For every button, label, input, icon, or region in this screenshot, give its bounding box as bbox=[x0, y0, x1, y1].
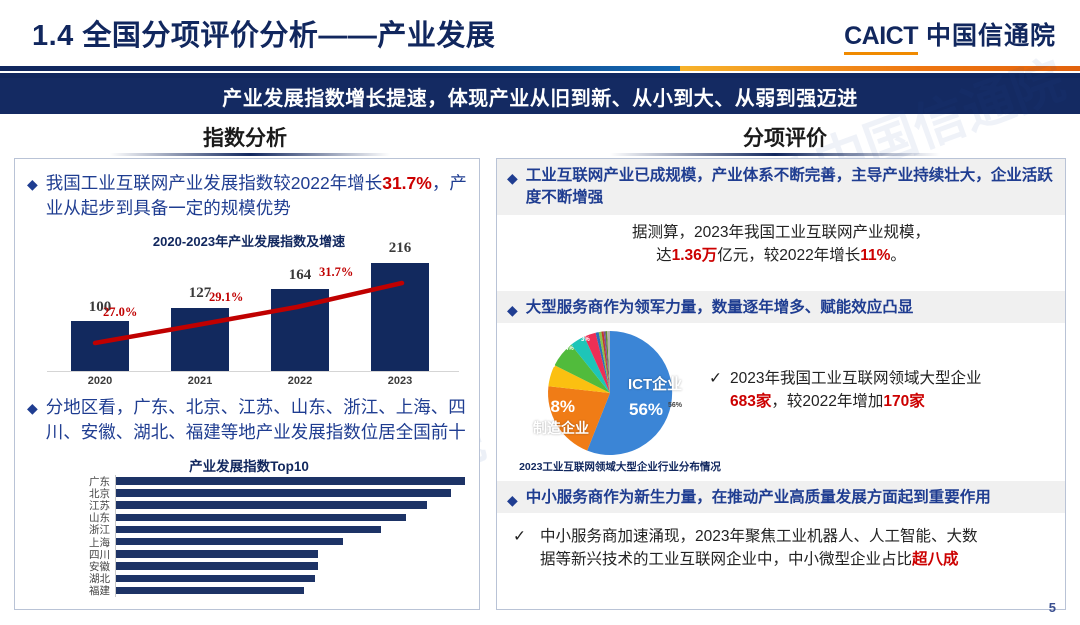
pie-svg bbox=[505, 329, 735, 457]
slide-header: 1.4 全国分项评价分析——产业发展 CAICT 中国信通院 bbox=[0, 0, 1080, 66]
bar-chart-axis-line bbox=[47, 371, 459, 372]
right-note-2: ✓ 2023年我国工业互联网领域大型企业683家，较2022年增加170家 bbox=[709, 367, 1059, 414]
bar-2021 bbox=[171, 308, 229, 372]
growth-label-2023: 31.7% bbox=[319, 265, 353, 280]
bar-category-2023: 2023 bbox=[365, 375, 435, 387]
top10-row: 北京 bbox=[71, 487, 465, 499]
headline-banner: 产业发展指数增长提速，体现产业从旧到新、从小到大、从弱到强迈进 bbox=[0, 78, 1080, 114]
top10-row: 湖北 bbox=[71, 573, 465, 585]
top10-row: 上海 bbox=[71, 536, 465, 548]
right-column-title: 分项评价 bbox=[490, 122, 1080, 152]
top10-bar-0 bbox=[116, 477, 465, 485]
right-heading-2: ◆ 大型服务商作为领军力量，数量逐年增多、赋能效应凸显 bbox=[497, 291, 1065, 323]
top10-row: 安徽 bbox=[71, 560, 465, 572]
top10-track bbox=[115, 573, 465, 585]
top10-row: 广东 bbox=[71, 475, 465, 487]
logo-abbr-text: CAICT bbox=[844, 22, 918, 55]
top10-bar-9 bbox=[116, 587, 304, 595]
right-heading-2-text: 大型服务商作为领军力量，数量逐年增多、赋能效应凸显 bbox=[526, 297, 914, 320]
bar-2020 bbox=[71, 321, 129, 371]
top10-bar-3 bbox=[116, 514, 406, 522]
logo-chinese-text: 中国信通院 bbox=[926, 16, 1056, 52]
right-note-2-text: 2023年我国工业互联网领域大型企业683家，较2022年增加170家 bbox=[730, 367, 981, 414]
bar-category-2020: 2020 bbox=[65, 375, 135, 387]
top10-row: 浙江 bbox=[71, 524, 465, 536]
large-enterprise-count: 683家 bbox=[730, 393, 771, 410]
top10-bar-8 bbox=[116, 575, 315, 583]
right-heading-1-text: 工业互联网产业已成规模，产业体系不断完善，主导产业持续壮大，企业活跃度不断增强 bbox=[526, 165, 1055, 209]
enterprise-industry-pie-chart: ICT企业 56% 18% 制造企业 6% 7% 4% 3% 56% 2023工… bbox=[505, 329, 735, 479]
top10-track bbox=[115, 512, 465, 524]
diamond-bullet-icon: ◆ bbox=[27, 395, 38, 445]
enterprise-increase-count: 170家 bbox=[883, 393, 924, 410]
right-title-rule bbox=[610, 153, 940, 156]
page-number: 5 bbox=[1049, 600, 1056, 615]
bar-category-2021: 2021 bbox=[165, 375, 235, 387]
top10-row: 福建 bbox=[71, 585, 465, 597]
top10-track bbox=[115, 487, 465, 499]
top10-bar-7 bbox=[116, 562, 318, 570]
top10-track bbox=[115, 524, 465, 536]
growth-highlight: 31.7% bbox=[382, 173, 432, 193]
top10-row: 四川 bbox=[71, 548, 465, 560]
left-bullet-1: ◆ 我国工业互联网产业发展指数较2022年增长31.7%，产业从起步到具备一定的… bbox=[27, 171, 469, 221]
header-divider-ribbon bbox=[0, 66, 1080, 78]
top10-track bbox=[115, 548, 465, 560]
left-bullet-2-text: 分地区看，广东、北京、江苏、山东、浙江、上海、四川、安徽、湖北、福建等地产业发展… bbox=[46, 395, 473, 445]
left-bullet-1-text: 我国工业互联网产业发展指数较2022年增长31.7%，产业从起步到具备一定的规模… bbox=[46, 171, 469, 221]
diamond-bullet-icon: ◆ bbox=[507, 487, 518, 510]
top10-row: 山东 bbox=[71, 512, 465, 524]
page-title: 1.4 全国分项评价分析——产业发展 bbox=[32, 12, 495, 54]
top10-track bbox=[115, 560, 465, 572]
scale-value-highlight: 1.36万 bbox=[672, 247, 718, 264]
left-title-rule bbox=[110, 153, 390, 156]
top10-rows: 广东 北京 江苏 山东 浙江 上海 bbox=[71, 475, 465, 597]
right-body-1-line2: 达1.36万亿元，较2022年增长11%。 bbox=[497, 244, 1065, 267]
right-body-1-line1: 据测算，2023年我国工业互联网产业规模， bbox=[497, 221, 1065, 244]
right-note-3: ✓ 中小服务商加速涌现，2023年聚焦工业机器人、人工智能、大数据等新兴技术的工… bbox=[497, 525, 1065, 572]
bar-value-2023: 216 bbox=[370, 240, 430, 257]
top10-chart-title: 产业发展指数Top10 bbox=[29, 455, 469, 475]
top10-track bbox=[115, 585, 465, 597]
pie-chart-caption: 2023工业互联网领域大型企业行业分布情况 bbox=[505, 459, 735, 474]
bar-2023 bbox=[371, 263, 429, 371]
subitem-evaluation-panel: ◆ 工业互联网产业已成规模，产业体系不断完善，主导产业持续壮大，企业活跃度不断增… bbox=[496, 158, 1066, 610]
diamond-bullet-icon: ◆ bbox=[507, 297, 518, 320]
caict-logo: CAICT 中国信通院 bbox=[844, 16, 1056, 55]
growth-pct-highlight: 11% bbox=[860, 247, 890, 264]
diamond-bullet-icon: ◆ bbox=[507, 165, 518, 209]
industry-index-bar-chart: 2020-2023年产业发展指数及增速 100 127 164 216 27.0… bbox=[29, 231, 469, 391]
right-note-3-text: 中小服务商加速涌现，2023年聚焦工业机器人、人工智能、大数据等新兴技术的工业互… bbox=[540, 525, 977, 572]
check-mark-icon: ✓ bbox=[709, 367, 722, 414]
top10-label-9: 福建 bbox=[71, 583, 115, 598]
left-column-title: 指数分析 bbox=[0, 122, 490, 152]
left-bullet-2: ◆ 分地区看，广东、北京、江苏、山东、浙江、上海、四川、安徽、湖北、福建等地产业… bbox=[27, 395, 473, 445]
top10-track bbox=[115, 536, 465, 548]
growth-label-2022: 29.1% bbox=[209, 290, 243, 305]
right-heading-3-text: 中小服务商作为新生力量，在推动产业高质量发展方面起到重要作用 bbox=[526, 487, 991, 510]
index-analysis-panel: ◆ 我国工业互联网产业发展指数较2022年增长31.7%，产业从起步到具备一定的… bbox=[14, 158, 480, 610]
check-mark-icon: ✓ bbox=[513, 525, 526, 572]
top10-row: 江苏 bbox=[71, 499, 465, 511]
growth-label-2021: 27.0% bbox=[103, 305, 137, 320]
top10-bar-1 bbox=[116, 489, 451, 497]
bar-category-2022: 2022 bbox=[265, 375, 335, 387]
right-body-1: 据测算，2023年我国工业互联网产业规模， 达1.36万亿元，较2022年增长1… bbox=[497, 221, 1065, 268]
top10-bar-4 bbox=[116, 526, 381, 534]
top10-bar-chart: 产业发展指数Top10 广东 北京 江苏 山东 浙江 bbox=[29, 455, 469, 603]
top10-bar-2 bbox=[116, 501, 427, 509]
diamond-bullet-icon: ◆ bbox=[27, 171, 38, 221]
sme-share-highlight: 超八成 bbox=[912, 551, 959, 568]
top10-bar-6 bbox=[116, 550, 318, 558]
right-heading-1: ◆ 工业互联网产业已成规模，产业体系不断完善，主导产业持续壮大，企业活跃度不断增… bbox=[497, 159, 1065, 215]
top10-bar-5 bbox=[116, 538, 343, 546]
bar-2022 bbox=[271, 289, 329, 371]
headline-banner-text: 产业发展指数增长提速，体现产业从旧到新、从小到大、从弱到强迈进 bbox=[222, 82, 858, 111]
right-heading-3: ◆ 中小服务商作为新生力量，在推动产业高质量发展方面起到重要作用 bbox=[497, 481, 1065, 513]
top10-track bbox=[115, 499, 465, 511]
top10-track bbox=[115, 475, 465, 487]
